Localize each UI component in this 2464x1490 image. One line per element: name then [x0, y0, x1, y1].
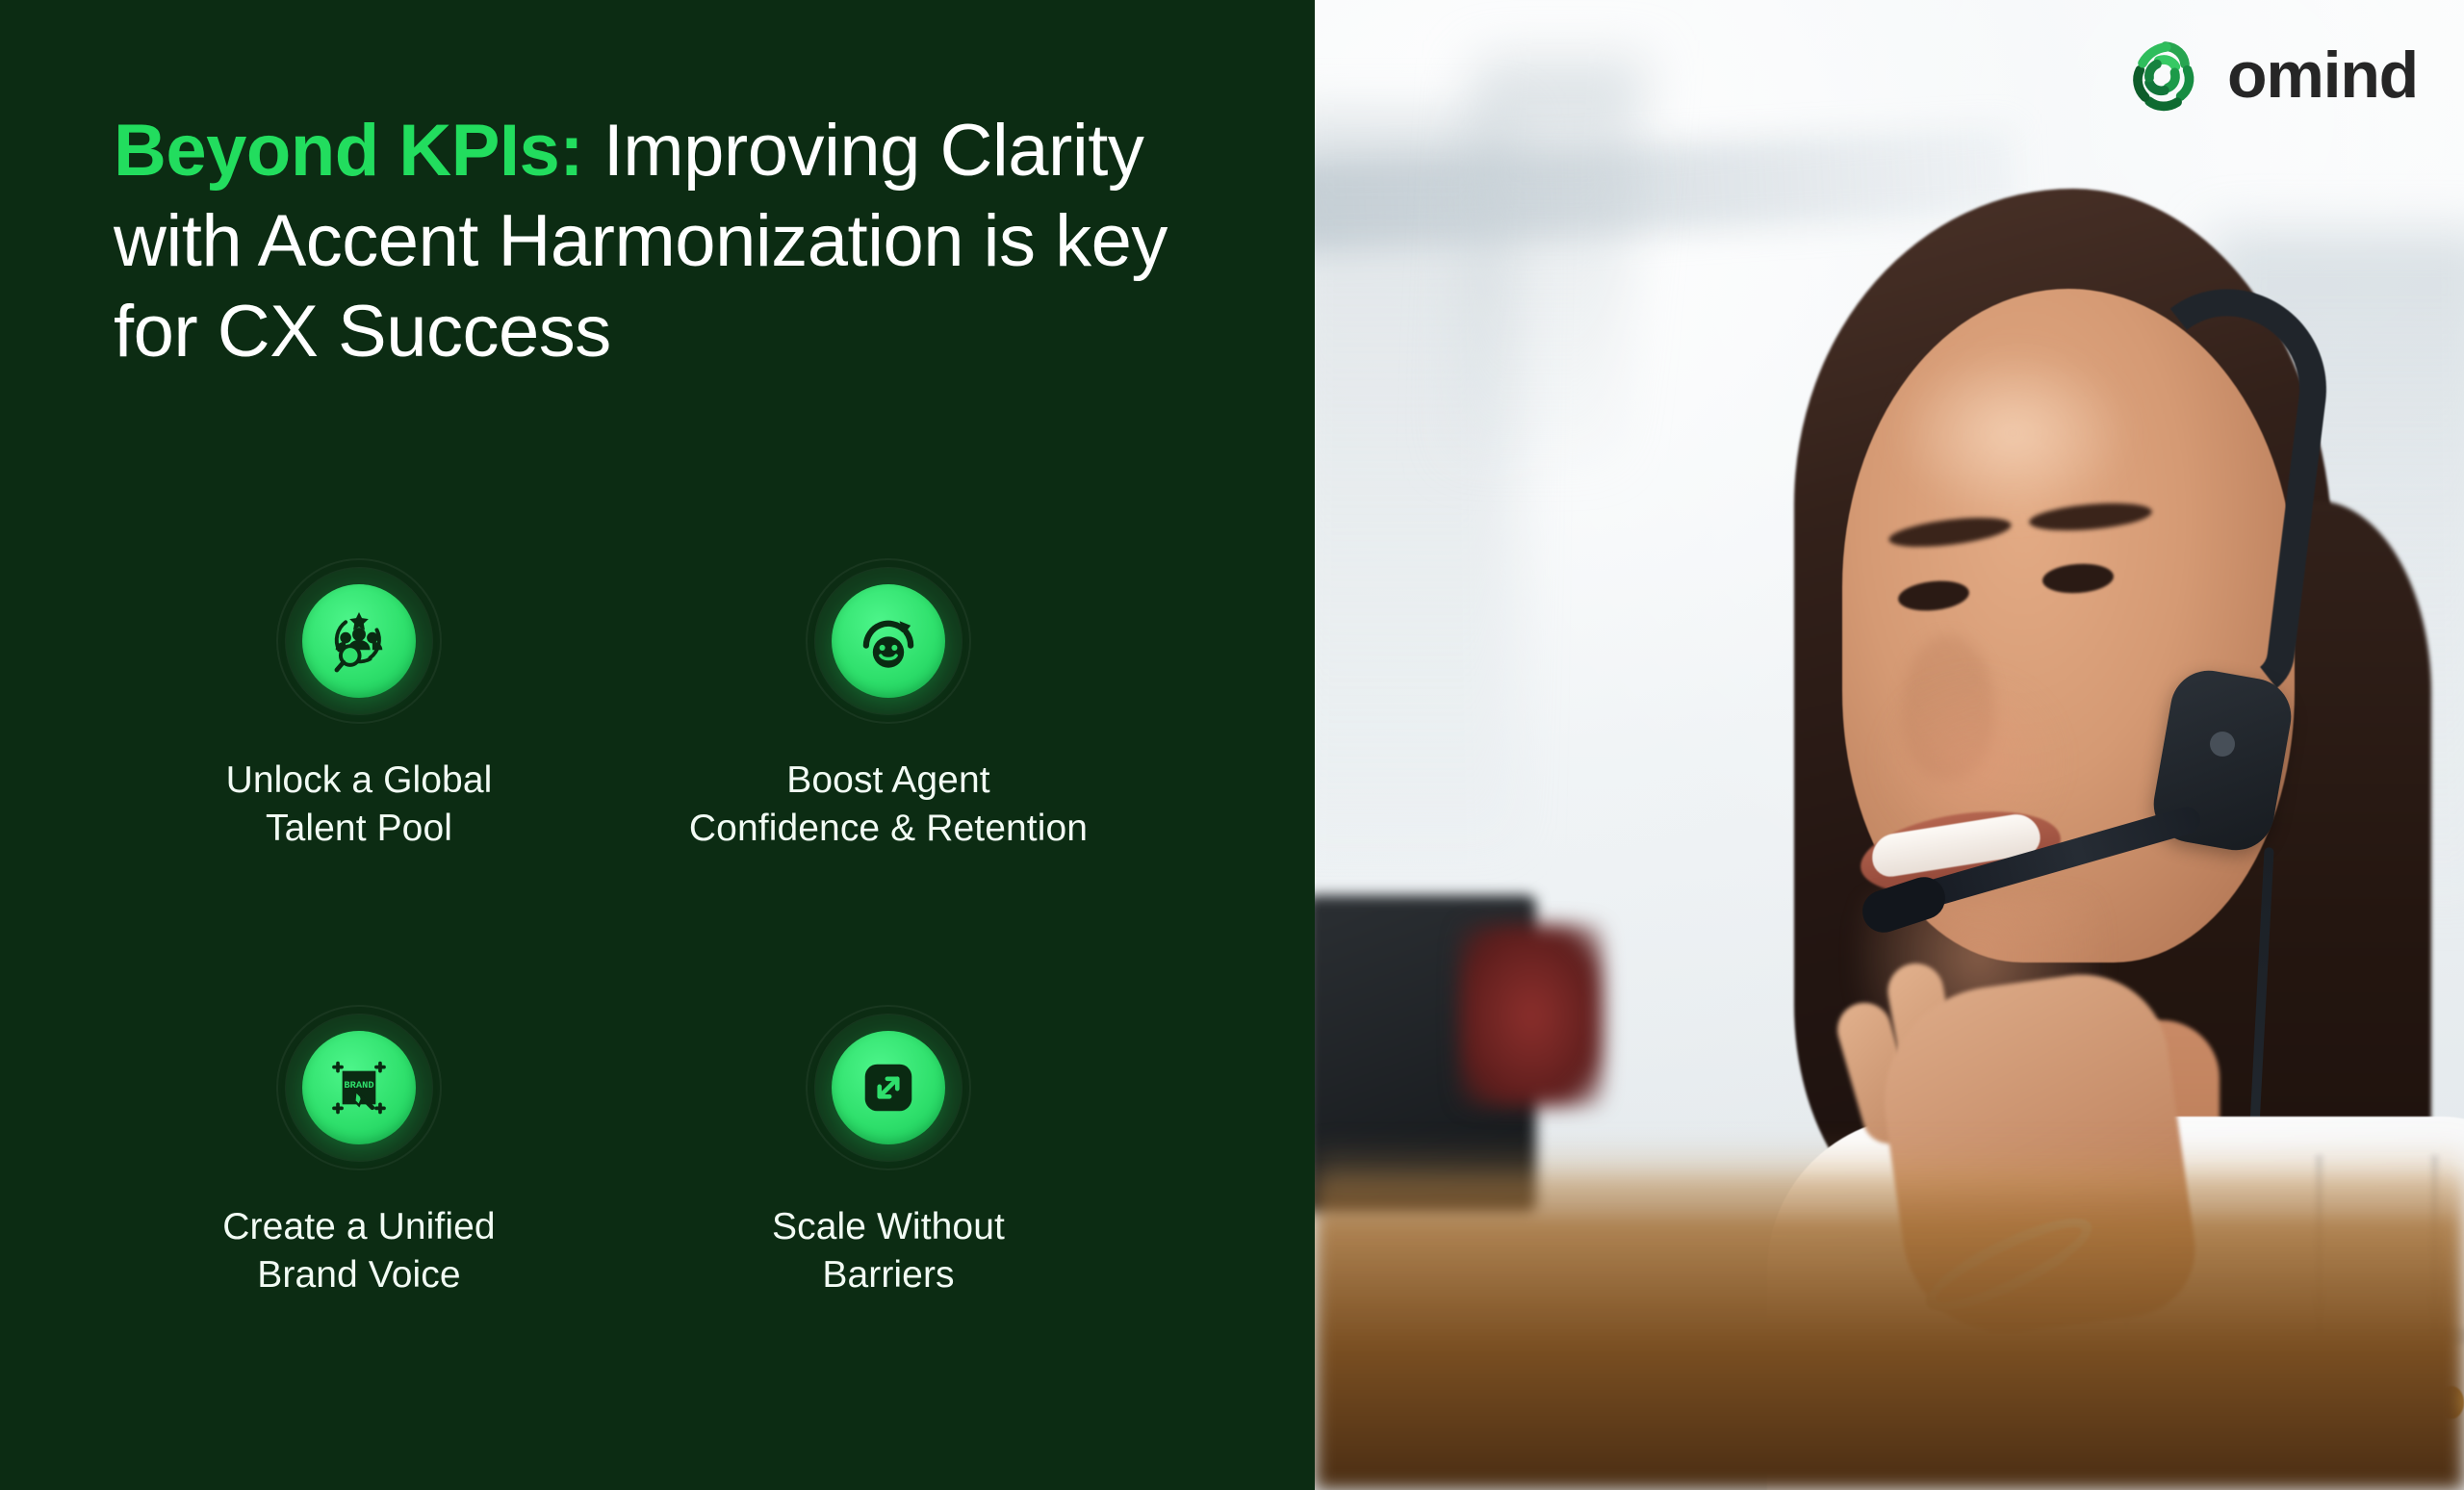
background-object: [1459, 924, 1604, 1107]
agent-confidence-smiley-icon: [832, 584, 945, 698]
feature-icon-badge: [815, 1015, 962, 1161]
feature-item: BRAND Create a Unified Brand Voice: [114, 1015, 604, 1299]
feature-grid: Unlock a Global Talent Pool: [114, 568, 1134, 1299]
hero-photo: omind AI Accent Localization Improves ac…: [1315, 0, 2464, 1490]
scale-expand-icon: [832, 1031, 945, 1144]
feature-item: Boost Agent Confidence & Retention: [643, 568, 1134, 853]
talent-search-icon: [302, 584, 416, 698]
brand-voice-icon: BRAND: [302, 1031, 416, 1144]
headline-accent: Beyond KPIs:: [114, 110, 583, 192]
feature-label: Boost Agent Confidence & Retention: [689, 757, 1088, 853]
feature-icon-badge: BRAND: [286, 1015, 432, 1161]
feature-icon-badge: [286, 568, 432, 714]
feature-label: Unlock a Global Talent Pool: [226, 757, 493, 853]
page-title: Beyond KPIs: Improving Clarity with Acce…: [114, 106, 1249, 378]
feature-label: Scale Without Barriers: [772, 1203, 1005, 1299]
omind-swirl-icon: [2121, 33, 2206, 117]
left-content-panel: Beyond KPIs: Improving Clarity with Acce…: [0, 0, 1315, 1490]
brand-logo: omind: [2121, 33, 2418, 117]
slide-root: Beyond KPIs: Improving Clarity with Acce…: [0, 0, 2464, 1490]
feature-label: Create a Unified Brand Voice: [222, 1203, 495, 1299]
svg-text:BRAND: BRAND: [344, 1080, 373, 1092]
headset-earcup-button: [2210, 732, 2235, 757]
logo-wordmark: omind: [2227, 42, 2418, 108]
foreground-desk: [1315, 1172, 2464, 1490]
feature-icon-badge: [815, 568, 962, 714]
feature-item: Unlock a Global Talent Pool: [114, 568, 604, 853]
feature-item: Scale Without Barriers: [643, 1015, 1134, 1299]
subject-forehead-highlight: [1892, 347, 2133, 520]
photo-subject: [1315, 0, 2464, 1490]
